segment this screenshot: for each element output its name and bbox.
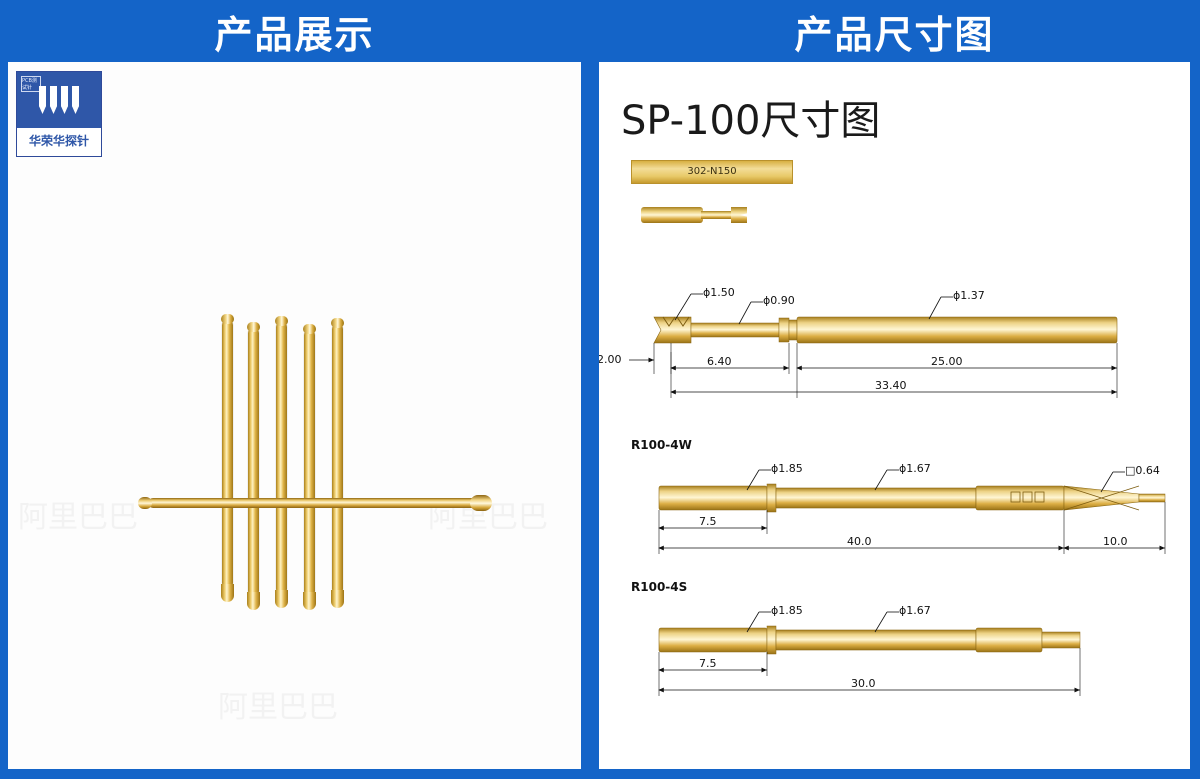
- probe-4: [304, 330, 315, 596]
- fig3-dia-1: ϕ1.85: [771, 604, 803, 617]
- product-photo: 阿里巴巴 阿里巴巴 阿里巴巴: [8, 62, 581, 769]
- fig1-dia-3: ϕ1.37: [953, 289, 985, 302]
- watermark-3: 阿里巴巴: [218, 682, 338, 726]
- fig1-dia-1: ϕ1.50: [703, 286, 735, 299]
- page-root: 产品展示 阿里巴巴 阿里巴巴 阿里巴巴: [0, 0, 1200, 779]
- probe-tip-icon: [331, 590, 344, 608]
- probe-tip-icon: [275, 590, 288, 608]
- probe-head-icon: [331, 318, 344, 328]
- probe-head-icon: [275, 316, 288, 326]
- probe-1: [222, 320, 233, 588]
- drawing-canvas: [599, 62, 1190, 769]
- fig2-dia-1: ϕ1.85: [771, 462, 803, 475]
- probe-3: [276, 322, 287, 594]
- fig2-len-3: 10.0: [1103, 535, 1128, 548]
- watermark-1: 阿里巴巴: [18, 492, 138, 536]
- fig2-len-2: 40.0: [847, 535, 872, 548]
- fig1-dia-2: ϕ0.90: [763, 294, 795, 307]
- fig3-dia-2: ϕ1.67: [899, 604, 931, 617]
- probe-head-icon: [221, 314, 234, 324]
- probe-tip-icon: [303, 592, 316, 610]
- fig2-dia-2: ϕ1.67: [899, 462, 931, 475]
- left-column: 产品展示 阿里巴巴 阿里巴巴 阿里巴巴: [0, 0, 589, 779]
- fig1-len-3: 25.00: [931, 355, 963, 368]
- fig2-model: R100-4W: [631, 438, 692, 452]
- fig1-len-4: 33.40: [875, 379, 907, 392]
- probe-5: [332, 324, 343, 594]
- right-column: 产品尺寸图 SP-100尺寸图 302-N150: [589, 0, 1200, 779]
- product-photo-panel: 阿里巴巴 阿里巴巴 阿里巴巴: [8, 62, 581, 769]
- probe-horizontal: [148, 498, 478, 508]
- fig3-model: R100-4S: [631, 580, 687, 594]
- logo-mark-icon: PCB测试针: [17, 72, 101, 128]
- logo-badge-text: PCB测试针: [21, 76, 41, 92]
- probe-2: [248, 328, 259, 596]
- fig3-len-2: 30.0: [851, 677, 876, 690]
- probe-horizontal-tip-icon: [138, 497, 152, 509]
- fig1-len-1: 2.00: [599, 353, 622, 366]
- probe-tip-icon: [221, 584, 234, 602]
- probe-head-icon: [247, 322, 260, 332]
- dimension-drawing-panel: SP-100尺寸图 302-N150: [599, 62, 1190, 769]
- brand-logo: PCB测试针 华荣华探针: [16, 71, 102, 157]
- probe-horizontal-cap-icon: [470, 495, 492, 511]
- banner-product-display: 产品展示: [0, 0, 589, 62]
- fig2-len-1: 7.5: [699, 515, 717, 528]
- fig2-dia-3: □0.64: [1125, 464, 1160, 477]
- banner-dimension-drawing: 产品尺寸图: [589, 0, 1200, 62]
- probe-head-icon: [303, 324, 316, 334]
- logo-pins-icon: [39, 86, 79, 114]
- fig3-len-1: 7.5: [699, 657, 717, 670]
- probe-tip-icon: [247, 592, 260, 610]
- probe-group: [128, 302, 528, 622]
- logo-company-name: 华荣华探针: [29, 132, 89, 149]
- fig1-len-2: 6.40: [707, 355, 732, 368]
